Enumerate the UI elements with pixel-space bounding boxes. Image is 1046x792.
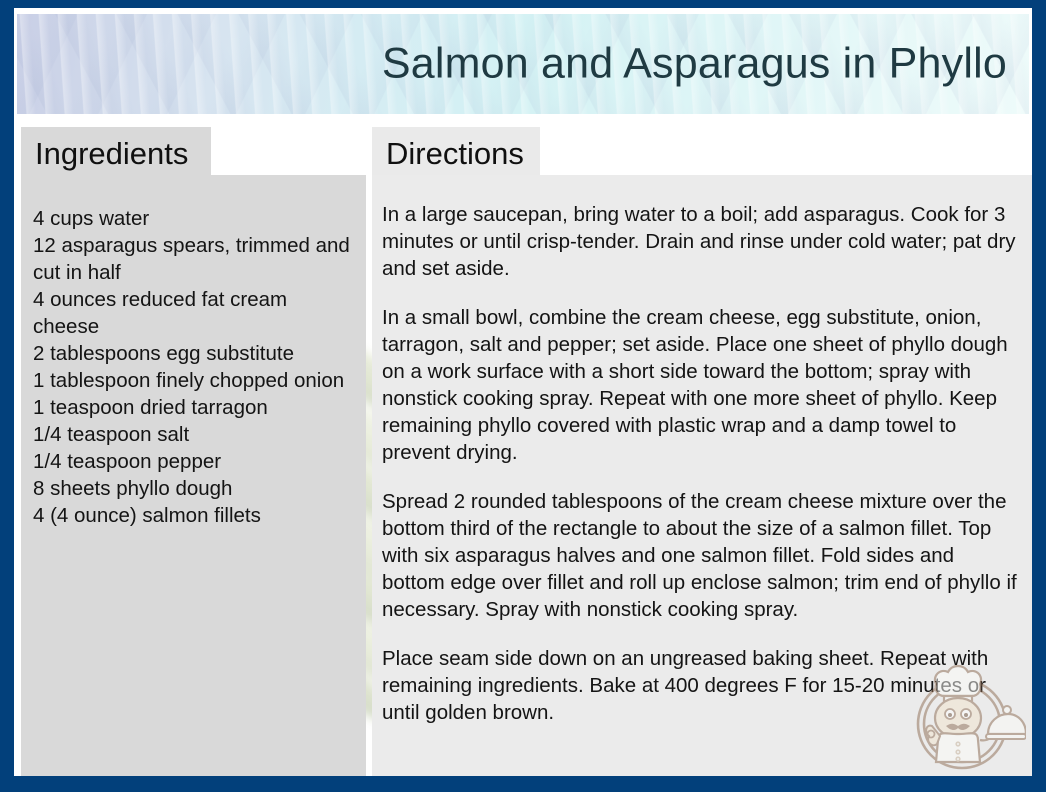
ingredients-header: Ingredients bbox=[21, 127, 211, 175]
direction-step: Place seam side down on an ungreased bak… bbox=[382, 645, 1018, 726]
list-item: 4 (4 ounce) salmon fillets bbox=[33, 502, 358, 529]
direction-step: In a small bowl, combine the cream chees… bbox=[382, 304, 1018, 466]
list-item: 4 ounces reduced fat cream cheese bbox=[33, 286, 358, 340]
recipe-slide: Salmon and Asparagus in Phyllo bbox=[0, 0, 1046, 792]
list-item: 12 asparagus spears, trimmed and cut in … bbox=[33, 232, 358, 286]
slide-card: Salmon and Asparagus in Phyllo bbox=[14, 8, 1032, 776]
direction-step: Spread 2 rounded tablespoons of the crea… bbox=[382, 488, 1018, 623]
ingredients-list: 4 cups water 12 asparagus spears, trimme… bbox=[33, 205, 358, 529]
direction-step: In a large saucepan, bring water to a bo… bbox=[382, 201, 1018, 282]
directions-panel: Directions In a large saucepan, bring wa… bbox=[372, 127, 1032, 776]
directions-body: In a large saucepan, bring water to a bo… bbox=[372, 175, 1032, 776]
directions-header: Directions bbox=[372, 127, 540, 175]
ingredients-heading-label: Ingredients bbox=[35, 138, 188, 169]
list-item: 2 tablespoons egg substitute bbox=[33, 340, 358, 367]
list-item: 8 sheets phyllo dough bbox=[33, 475, 358, 502]
title-banner: Salmon and Asparagus in Phyllo bbox=[17, 14, 1029, 114]
directions-heading-label: Directions bbox=[386, 138, 524, 169]
list-item: 1/4 teaspoon pepper bbox=[33, 448, 358, 475]
list-item: 1/4 teaspoon salt bbox=[33, 421, 358, 448]
ingredients-panel: Ingredients 4 cups water 12 asparagus sp… bbox=[21, 127, 366, 776]
page-title: Salmon and Asparagus in Phyllo bbox=[382, 43, 1007, 86]
ingredients-body: 4 cups water 12 asparagus spears, trimme… bbox=[21, 175, 366, 776]
list-item: 4 cups water bbox=[33, 205, 358, 232]
list-item: 1 teaspoon dried tarragon bbox=[33, 394, 358, 421]
list-item: 1 tablespoon finely chopped onion bbox=[33, 367, 358, 394]
